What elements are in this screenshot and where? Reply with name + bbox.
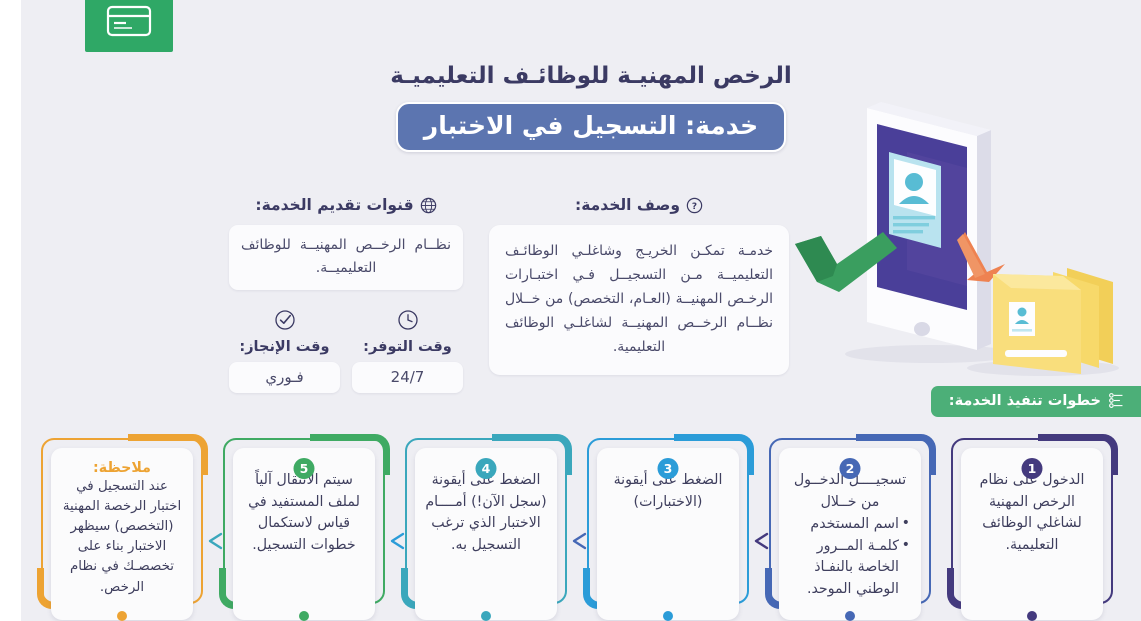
header: الرخص المهنيـة للوظائـف التعليميـة خدمة:… bbox=[321, 62, 861, 152]
availability-time-label: وقت التوفر: bbox=[352, 339, 463, 355]
step-card-body-3: 3 الضغط على أيقونة (الاختبارات) bbox=[597, 448, 739, 620]
service-description-heading-label: وصف الخدمة: bbox=[575, 196, 680, 214]
content-surface: الرخص المهنيـة للوظائـف التعليميـة خدمة:… bbox=[21, 0, 1141, 621]
step-connector-dot-3 bbox=[663, 611, 673, 621]
step-number-5: 5 bbox=[294, 458, 315, 479]
step-connector-dot-4 bbox=[481, 611, 491, 621]
note-text: عند التسجيل في اختبار الرخصة المهنية (ال… bbox=[60, 477, 184, 598]
note-title: ملاحظة: bbox=[60, 460, 184, 476]
note-card-body: ملاحظة: عند التسجيل في اختبار الرخصة الم… bbox=[51, 448, 193, 620]
tablet-profile-folders-illustration bbox=[781, 96, 1133, 386]
step-card-1[interactable]: 1 الدخول على نظام الرخص المهنية لشاغلي ا… bbox=[945, 434, 1119, 621]
availability-time-value: 24/7 bbox=[352, 362, 463, 393]
service-description-heading: ? وصف الخدمة: bbox=[489, 196, 789, 214]
step-card-body-4: 4 الضغط على أيقونة (سجل الآن!) أمــــام … bbox=[415, 448, 557, 620]
service-description-section: ? وصف الخدمة: خدمـة تمكـن الخريـج وشاغلـ… bbox=[489, 196, 789, 375]
step-2-bullet-2: كلمـة المــرور الخاصة بالنفـاذ الوطني ال… bbox=[788, 536, 910, 601]
availability-time-item: وقت التوفر: 24/7 bbox=[352, 308, 463, 393]
note-connector-dot bbox=[117, 611, 127, 621]
globe-icon bbox=[420, 197, 437, 214]
completion-time-value: فـوري bbox=[229, 362, 340, 393]
note-card[interactable]: ملاحظة: عند التسجيل في اختبار الرخصة الم… bbox=[35, 434, 209, 621]
license-card-icon bbox=[106, 5, 152, 37]
step-card-2[interactable]: 2 تسجيــــل الدخــول من خــلال اسم المست… bbox=[763, 434, 937, 621]
step-number-4: 4 bbox=[476, 458, 497, 479]
completion-time-item: وقت الإنجاز: فـوري bbox=[229, 308, 340, 393]
service-channels-heading-label: قنوات تقديم الخدمة: bbox=[255, 196, 413, 214]
step-2-bullet-list: اسم المستخدم كلمـة المــرور الخاصة بالنف… bbox=[788, 514, 912, 600]
completion-time-label: وقت الإنجاز: bbox=[229, 339, 340, 355]
service-channels-card: نظــام الرخــص المهنيــة للوظائف التعليم… bbox=[229, 225, 463, 290]
arrow-left-icon-5 bbox=[205, 530, 227, 552]
step-text-2: تسجيــــل الدخــول من خــلال اسم المستخد… bbox=[788, 470, 912, 600]
step-text-1: الدخول على نظام الرخص المهنية لشاغلي الو… bbox=[970, 470, 1094, 556]
step-card-3[interactable]: 3 الضغط على أيقونة (الاختبارات) bbox=[581, 434, 755, 621]
step-card-5[interactable]: 5 سيتم الانتقال آلياً لملف المستفيد في ق… bbox=[217, 434, 391, 621]
service-channels-heading: قنوات تقديم الخدمة: bbox=[229, 196, 463, 214]
steps-banner: خطوات تنفيذ الخدمة: bbox=[931, 386, 1141, 417]
svg-text:?: ? bbox=[692, 202, 697, 212]
step-number-2: 2 bbox=[840, 458, 861, 479]
step-2-bullet-1: اسم المستخدم bbox=[788, 514, 910, 536]
step-card-body-2: 2 تسجيــــل الدخــول من خــلال اسم المست… bbox=[779, 448, 921, 620]
question-mark-icon: ? bbox=[686, 197, 703, 214]
step-card-body-1: 1 الدخول على نظام الرخص المهنية لشاغلي ا… bbox=[961, 448, 1103, 620]
steps-strip: 1 الدخول على نظام الرخص المهنية لشاغلي ا… bbox=[35, 434, 1119, 621]
steps-banner-label: خطوات تنفيذ الخدمة: bbox=[949, 393, 1101, 409]
arrow-left-icon-3 bbox=[569, 530, 591, 552]
step-text-4: الضغط على أيقونة (سجل الآن!) أمــــام ال… bbox=[424, 470, 548, 556]
clock-icon bbox=[352, 308, 463, 334]
step-connector-dot-5 bbox=[299, 611, 309, 621]
service-name-badge: خدمة: التسجيل في الاختبار bbox=[396, 102, 786, 152]
service-description-card: خدمـة تمكـن الخريـج وشاغلـي الوظائـف الت… bbox=[489, 225, 789, 375]
step-connector-dot-2 bbox=[845, 611, 855, 621]
check-circle-icon bbox=[229, 308, 340, 334]
service-meta-row: وقت التوفر: 24/7 وقت الإنجاز: فـوري bbox=[229, 308, 463, 393]
step-number-3: 3 bbox=[658, 458, 679, 479]
service-channels-section: قنوات تقديم الخدمة: نظــام الرخــص المهن… bbox=[229, 196, 463, 393]
infographic-page: الرخص المهنيـة للوظائـف التعليميـة خدمة:… bbox=[0, 0, 1141, 621]
page-title: الرخص المهنيـة للوظائـف التعليميـة bbox=[321, 62, 861, 91]
arrow-left-icon-2 bbox=[751, 530, 773, 552]
step-connector-dot-1 bbox=[1027, 611, 1037, 621]
step-text-5: سيتم الانتقال آلياً لملف المستفيد في قيا… bbox=[242, 470, 366, 556]
step-card-4[interactable]: 4 الضغط على أيقونة (سجل الآن!) أمــــام … bbox=[399, 434, 573, 621]
arrow-left-icon-4 bbox=[387, 530, 409, 552]
step-card-body-5: 5 سيتم الانتقال آلياً لملف المستفيد في ق… bbox=[233, 448, 375, 620]
steps-flow-icon bbox=[1108, 392, 1125, 409]
step-number-1: 1 bbox=[1022, 458, 1043, 479]
brand-badge bbox=[85, 0, 173, 52]
